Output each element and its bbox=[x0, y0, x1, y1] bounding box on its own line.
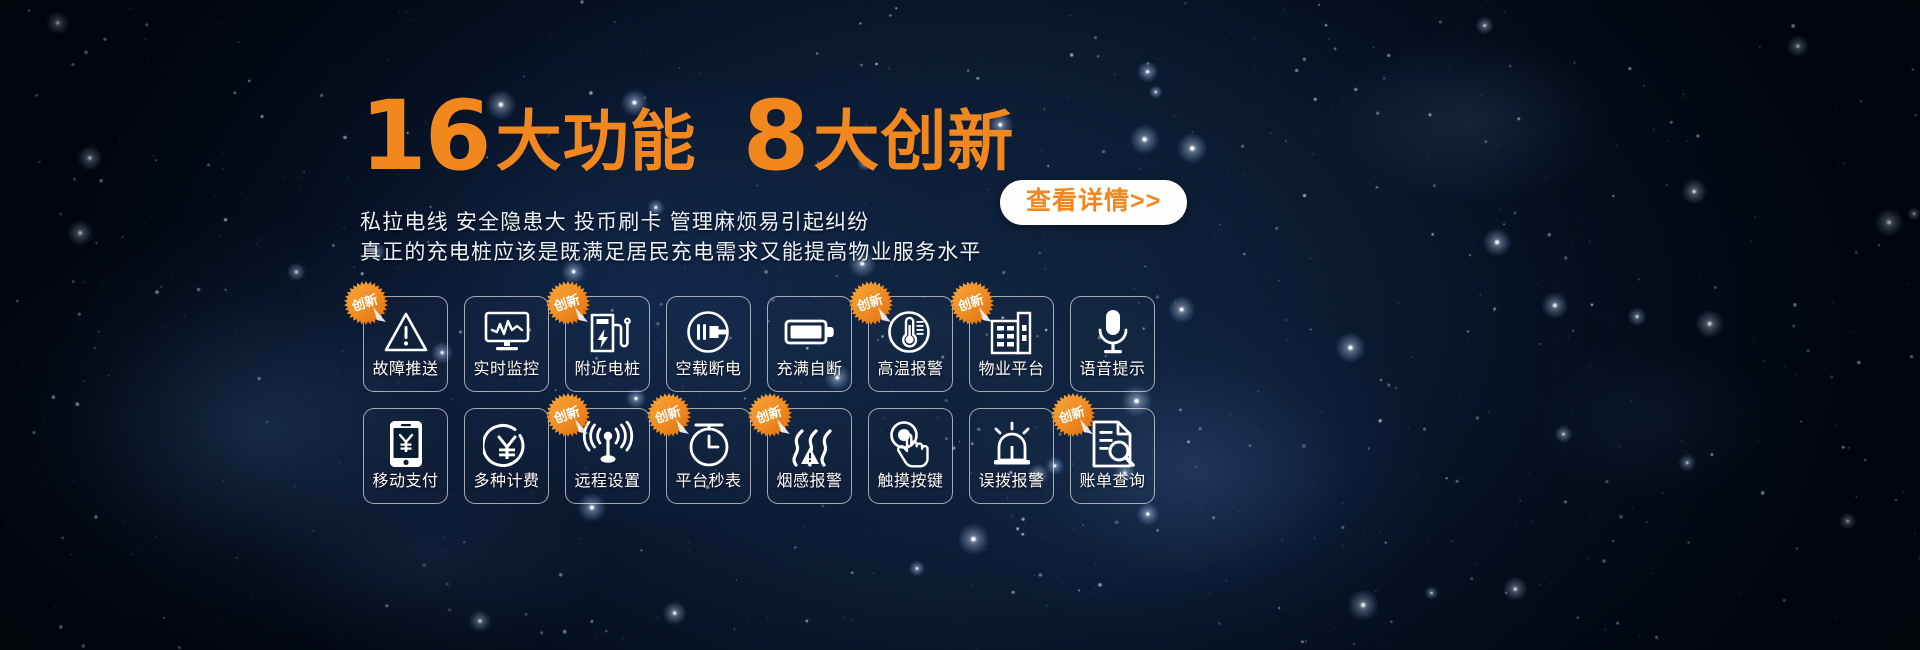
feature-card-stopwatch[interactable]: 平台秒表 bbox=[666, 408, 751, 504]
feature-card-cell: 远程设置创新 bbox=[557, 402, 658, 510]
feature-card-antenna-signal[interactable]: 远程设置 bbox=[565, 408, 650, 504]
warning-triangle-icon bbox=[364, 303, 447, 361]
yuan-circle-icon bbox=[465, 415, 548, 473]
feature-card-cell: 故障推送创新 bbox=[355, 290, 456, 398]
feature-card-microphone[interactable]: 语音提示 bbox=[1070, 296, 1155, 392]
feature-card-label: 误拨报警 bbox=[978, 474, 1044, 490]
feature-card-label: 故障推送 bbox=[372, 362, 438, 378]
feature-card-cell: 账单查询创新 bbox=[1062, 402, 1163, 510]
feature-card-cell: 空载断电 bbox=[658, 290, 759, 398]
feature-card-thermometer-circle[interactable]: 高温报警 bbox=[868, 296, 953, 392]
headline-text-1: 大功能 bbox=[496, 108, 697, 174]
feature-card-cell: 移动支付 bbox=[355, 402, 456, 510]
feature-card-building[interactable]: 物业平台 bbox=[969, 296, 1054, 392]
feature-card-label: 账单查询 bbox=[1079, 474, 1145, 490]
feature-card-cell: 高温报警创新 bbox=[860, 290, 961, 398]
feature-card-charging-pile[interactable]: 附近电桩 bbox=[565, 296, 650, 392]
feature-card-battery-full[interactable]: 充满自断 bbox=[767, 296, 852, 392]
phone-yuan-icon bbox=[364, 415, 447, 473]
document-search-icon bbox=[1071, 415, 1154, 473]
feature-card-label: 充满自断 bbox=[776, 362, 842, 378]
feature-card-label: 平台秒表 bbox=[675, 474, 741, 490]
feature-card-touch-hand[interactable]: 触摸按键 bbox=[868, 408, 953, 504]
feature-card-cell: 误拨报警 bbox=[961, 402, 1062, 510]
feature-card-label: 高温报警 bbox=[877, 362, 943, 378]
feature-card-warning-triangle[interactable]: 故障推送 bbox=[363, 296, 448, 392]
antenna-signal-icon bbox=[566, 415, 649, 473]
touch-hand-icon bbox=[869, 415, 952, 473]
monitor-waveform-icon bbox=[465, 303, 548, 361]
feature-card-cell: 充满自断 bbox=[759, 290, 860, 398]
headline: 16 大功能 8 大创新 bbox=[360, 92, 1014, 180]
feature-card-cell: 触摸按键 bbox=[860, 402, 961, 510]
feature-card-cell: 多种计费 bbox=[456, 402, 557, 510]
feature-card-label: 远程设置 bbox=[574, 474, 640, 490]
battery-full-icon bbox=[768, 303, 851, 361]
feature-card-cell: 物业平台创新 bbox=[961, 290, 1062, 398]
subtitle-line-1: 私拉电线 安全隐患大 投币刷卡 管理麻烦易引起纠纷 bbox=[360, 208, 982, 238]
headline-number-1: 16 bbox=[360, 92, 490, 180]
feature-card-cell: 附近电桩创新 bbox=[557, 290, 658, 398]
smoke-alarm-icon bbox=[768, 415, 851, 473]
subtitle-line-2: 真正的充电桩应该是既满足居民充电需求又能提高物业服务水平 bbox=[360, 238, 982, 268]
microphone-icon bbox=[1071, 303, 1154, 361]
feature-card-label: 附近电桩 bbox=[574, 362, 640, 378]
plug-circle-icon bbox=[667, 303, 750, 361]
charging-pile-icon bbox=[566, 303, 649, 361]
feature-card-label: 实时监控 bbox=[473, 362, 539, 378]
building-icon bbox=[970, 303, 1053, 361]
headline-number-2: 8 bbox=[743, 92, 808, 180]
siren-icon bbox=[970, 415, 1053, 473]
feature-card-document-search[interactable]: 账单查询 bbox=[1070, 408, 1155, 504]
view-details-label: 查看详情>> bbox=[1026, 189, 1161, 214]
feature-card-siren[interactable]: 误拨报警 bbox=[969, 408, 1054, 504]
feature-card-label: 多种计费 bbox=[473, 474, 539, 490]
banner-stage: 16 大功能 8 大创新 私拉电线 安全隐患大 投币刷卡 管理麻烦易引起纠纷 真… bbox=[0, 0, 1920, 650]
feature-card-grid: 故障推送创新实时监控附近电桩创新空载断电充满自断高温报警创新物业平台创新语音提示… bbox=[355, 290, 1163, 510]
feature-card-label: 触摸按键 bbox=[877, 474, 943, 490]
feature-card-yuan-circle[interactable]: 多种计费 bbox=[464, 408, 549, 504]
stopwatch-icon bbox=[667, 415, 750, 473]
feature-card-cell: 平台秒表创新 bbox=[658, 402, 759, 510]
feature-card-label: 物业平台 bbox=[978, 362, 1044, 378]
feature-card-phone-yuan[interactable]: 移动支付 bbox=[363, 408, 448, 504]
feature-card-cell: 烟感报警创新 bbox=[759, 402, 860, 510]
thermometer-circle-icon bbox=[869, 303, 952, 361]
feature-card-label: 烟感报警 bbox=[776, 474, 842, 490]
feature-card-smoke-alarm[interactable]: 烟感报警 bbox=[767, 408, 852, 504]
feature-card-cell: 语音提示 bbox=[1062, 290, 1163, 398]
view-details-button[interactable]: 查看详情>> bbox=[1000, 180, 1187, 225]
feature-card-monitor-waveform[interactable]: 实时监控 bbox=[464, 296, 549, 392]
subtitle-block: 私拉电线 安全隐患大 投币刷卡 管理麻烦易引起纠纷 真正的充电桩应该是既满足居民… bbox=[360, 208, 982, 268]
feature-card-label: 语音提示 bbox=[1079, 362, 1145, 378]
feature-card-cell: 实时监控 bbox=[456, 290, 557, 398]
feature-card-label: 移动支付 bbox=[372, 474, 438, 490]
headline-text-2: 大创新 bbox=[813, 108, 1014, 174]
feature-card-plug-circle[interactable]: 空载断电 bbox=[666, 296, 751, 392]
feature-card-label: 空载断电 bbox=[675, 362, 741, 378]
